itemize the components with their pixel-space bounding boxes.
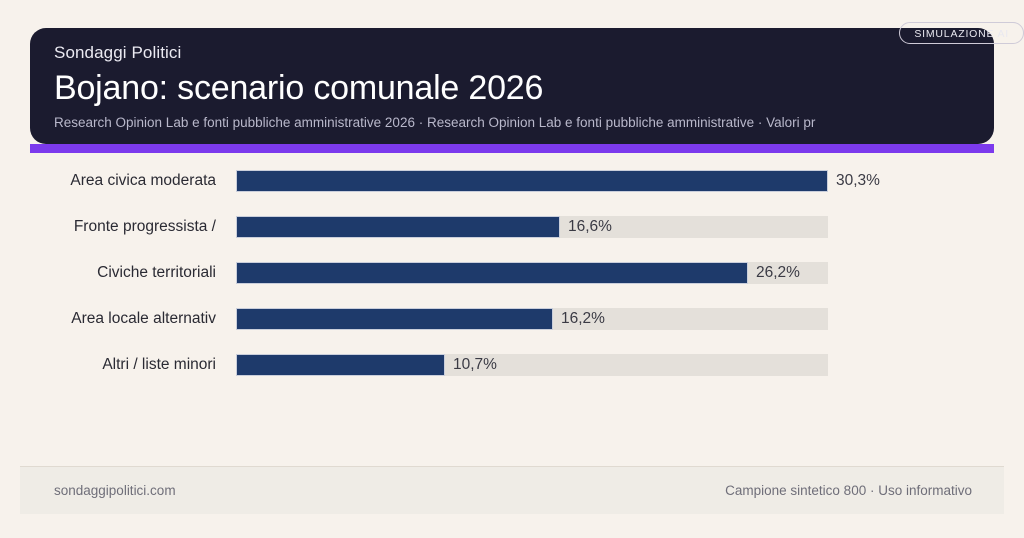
bar-value-label: 26,2% [756,256,800,290]
bar-category-label: Area civica moderata [20,164,216,198]
bar-fill [236,170,828,192]
bar-row: Area civica moderata30,3% [0,170,1024,192]
bar-row: Area locale alternativ16,2% [0,308,1024,330]
bar-chart: Area civica moderata30,3%Fronte progress… [0,170,1024,402]
poll-chart-poster: Sondaggi Politici Bojano: scenario comun… [0,0,1024,538]
header-card: Sondaggi Politici Bojano: scenario comun… [30,28,994,144]
bar-value-label: 16,2% [561,302,605,336]
page-title: Bojano: scenario comunale 2026 [54,66,994,110]
bar-track [236,354,828,376]
bar-fill [236,308,553,330]
accent-divider [30,144,994,153]
bar-track [236,170,828,192]
footer-website: sondaggipolitici.com [54,467,176,514]
bar-track [236,262,828,284]
bar-fill [236,354,445,376]
bar-category-label: Area locale alternativ [20,302,216,336]
brand-kicker: Sondaggi Politici [54,42,994,64]
header-text-block: Sondaggi Politici Bojano: scenario comun… [54,42,994,144]
bar-value-label: 30,3% [836,164,880,198]
bar-row: Civiche territoriali26,2% [0,262,1024,284]
footer-bar: sondaggipolitici.com Campione sintetico … [20,466,1004,514]
bar-fill [236,216,560,238]
bar-row: Altri / liste minori10,7% [0,354,1024,376]
bar-category-label: Fronte progressista / [20,210,216,244]
bar-row: Fronte progressista /16,6% [0,216,1024,238]
footer-note: Campione sintetico 800 · Uso informativo [725,467,972,514]
bar-category-label: Civiche territoriali [20,256,216,290]
status-badge-simulazione-ai: SIMULAZIONE AI [899,22,1024,44]
bar-value-label: 16,6% [568,210,612,244]
source-subtitle: Research Opinion Lab e fonti pubbliche a… [54,113,994,133]
bar-track [236,308,828,330]
bar-track [236,216,828,238]
bar-fill [236,262,748,284]
bar-value-label: 10,7% [453,348,497,382]
bar-category-label: Altri / liste minori [20,348,216,382]
